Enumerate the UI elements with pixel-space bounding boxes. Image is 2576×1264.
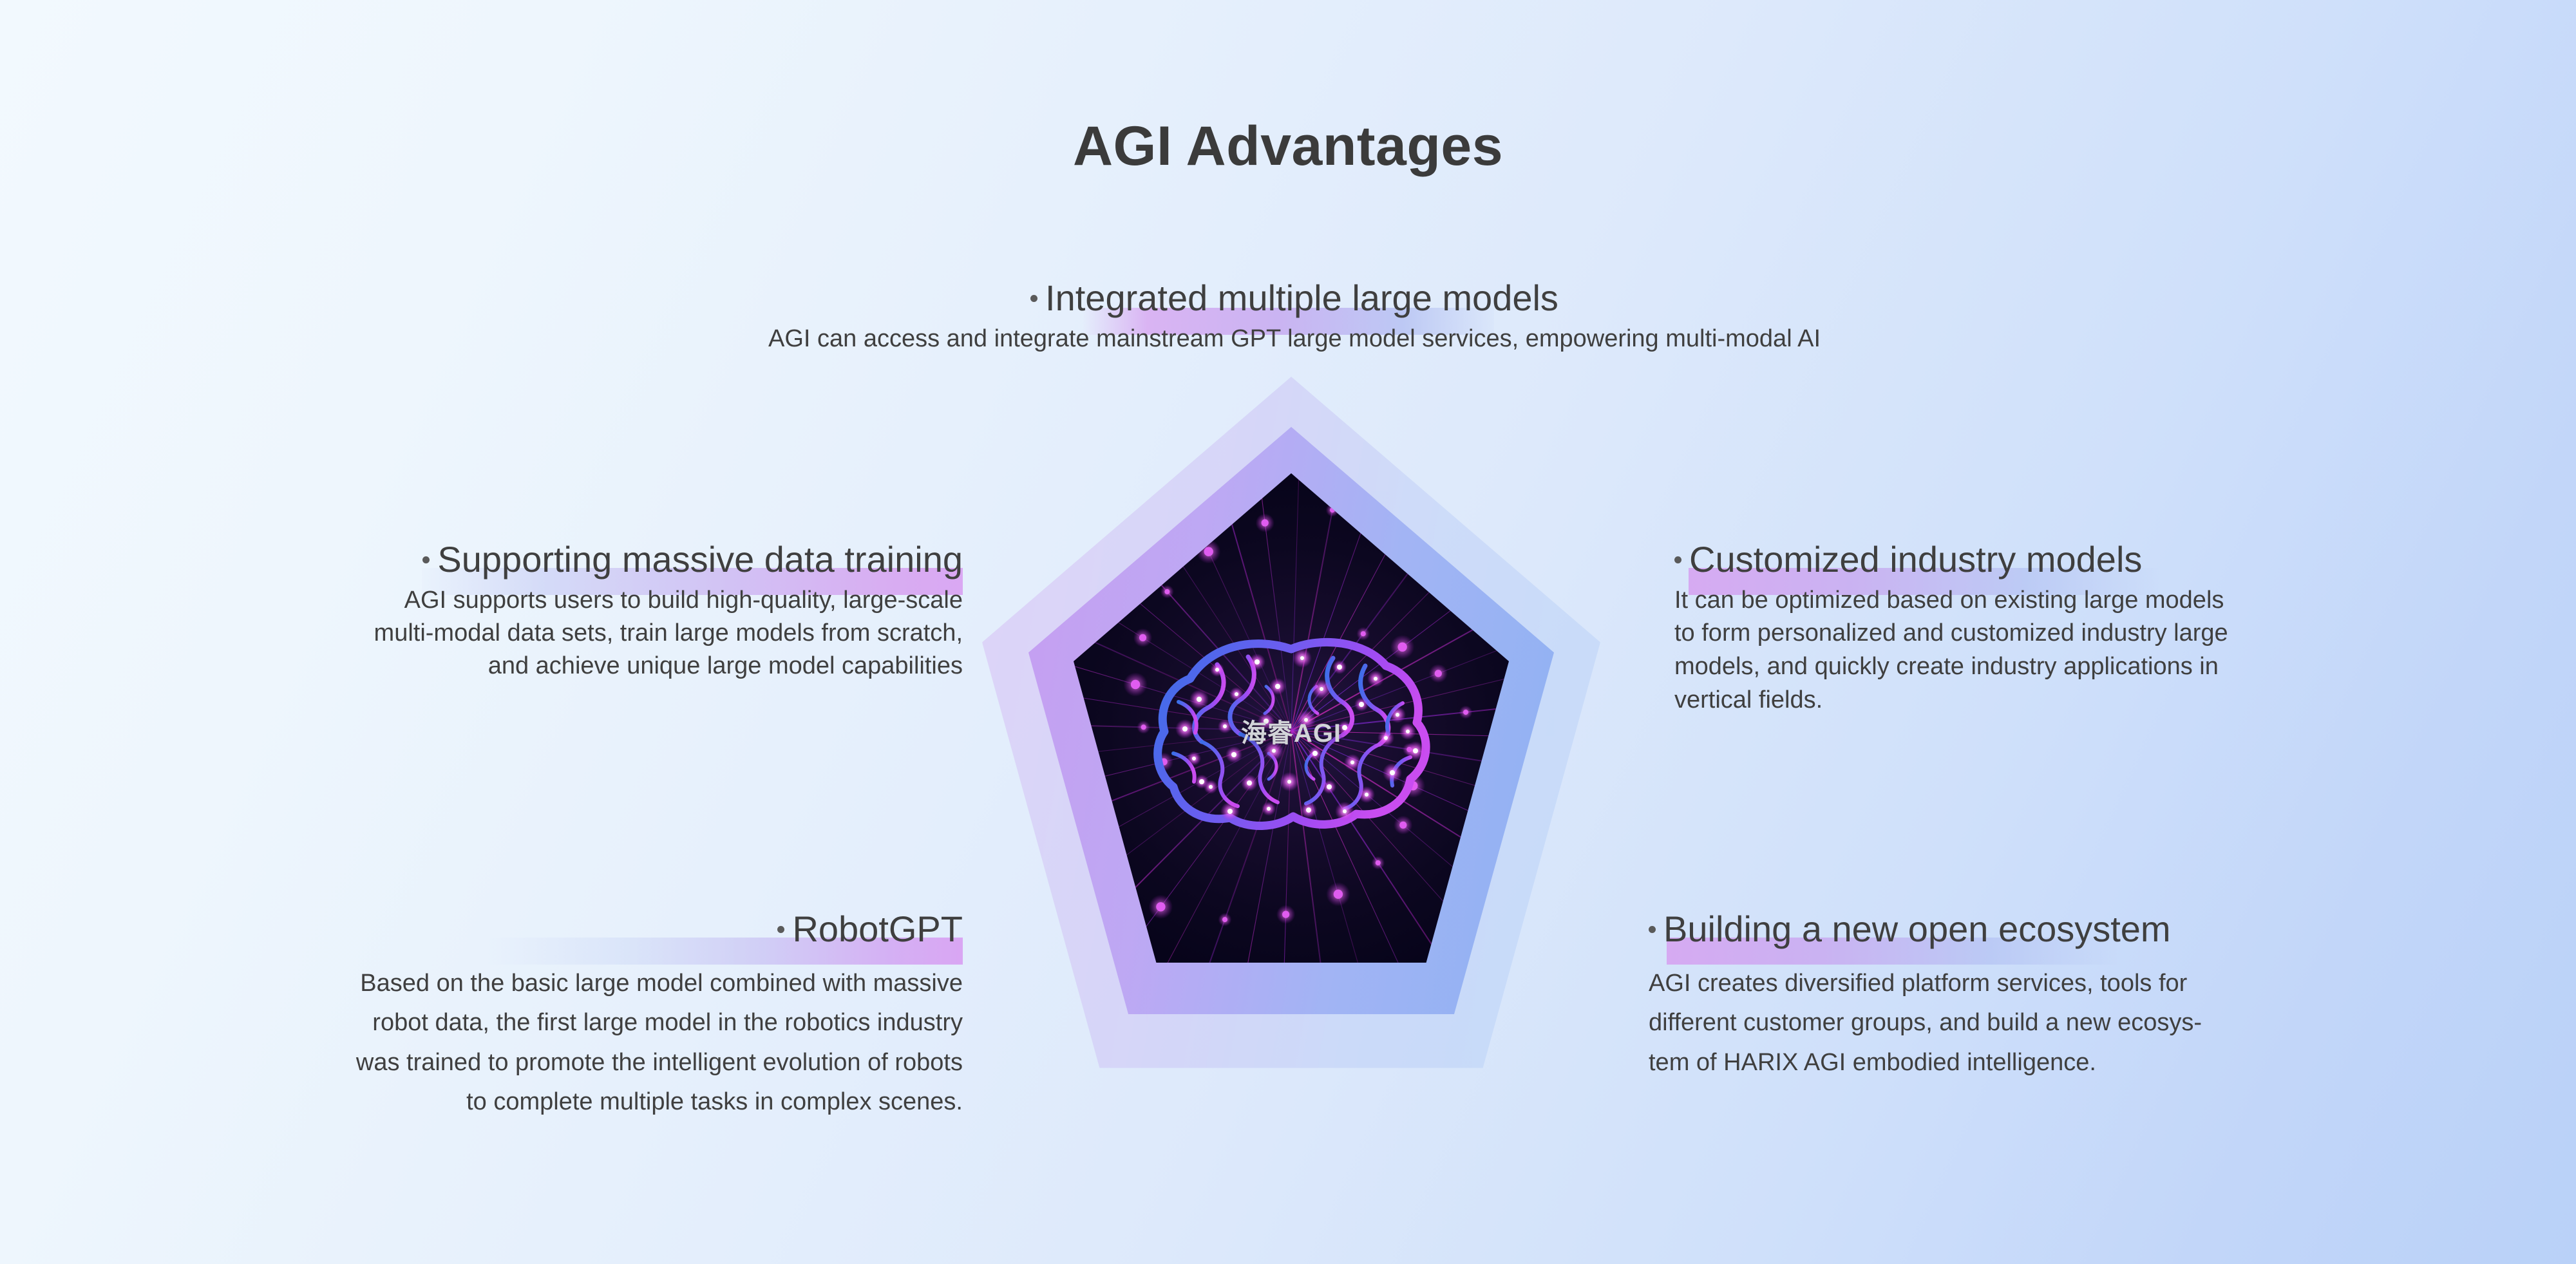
feature-heading: RobotGPT xyxy=(61,909,963,950)
feature-heading: Building a new open ecosystem xyxy=(1649,909,2512,950)
feature-body: AGI supports users to build high-quality… xyxy=(61,584,963,683)
body-line: models, and quickly create industry appl… xyxy=(1674,653,2219,680)
feature-building-a-new-open-ecosystem: Building a new open ecosystem AGI create… xyxy=(1649,909,2512,1082)
bullet-dot xyxy=(1649,926,1656,933)
bullet-dot xyxy=(422,556,430,563)
feature-body: It can be optimized based on existing la… xyxy=(1674,584,2524,717)
slide-canvas: AGI Advantages xyxy=(0,0,2576,1264)
body-line: AGI supports users to build high-quality… xyxy=(404,587,963,614)
feature-body: AGI creates diversified platform service… xyxy=(1649,964,2512,1083)
body-line: different customer groups, and build a n… xyxy=(1649,1009,2202,1036)
body-line: robot data, the first large model in the… xyxy=(372,1009,963,1036)
center-pentagon-graphic: 海睿AGI xyxy=(982,377,1600,1104)
feature-robotgpt: RobotGPT Based on the basic large model … xyxy=(61,909,963,1122)
feature-heading: Supporting massive data training xyxy=(61,540,963,580)
feature-integrated-multiple-large-models: Integrated multiple large models AGI can… xyxy=(567,278,2022,355)
body-line: vertical fields. xyxy=(1674,686,1823,713)
body-line: was trained to promote the intelligent e… xyxy=(356,1049,963,1076)
page-title: AGI Advantages xyxy=(0,115,2576,178)
body-line: AGI creates diversified platform service… xyxy=(1649,970,2187,997)
feature-body: Based on the basic large model combined … xyxy=(61,964,963,1122)
feature-heading: Customized industry models xyxy=(1674,540,2524,580)
bullet-dot xyxy=(1030,295,1037,302)
feature-body: AGI can access and integrate mainstream … xyxy=(567,323,2022,355)
body-line: tem of HARIX AGI embodied intelligence. xyxy=(1649,1049,2096,1076)
body-line: multi-modal data sets, train large model… xyxy=(374,619,963,646)
heading-wrap: Integrated multiple large models xyxy=(567,278,2022,319)
bullet-dot xyxy=(1674,556,1681,563)
body-line: It can be optimized based on existing la… xyxy=(1674,587,2224,614)
body-line: to form personalized and customized indu… xyxy=(1674,619,2228,646)
body-line: and achieve unique large model capabilit… xyxy=(488,652,963,679)
bullet-dot xyxy=(777,926,784,933)
heading-wrap: Customized industry models xyxy=(1674,540,2524,580)
body-line: to complete multiple tasks in complex sc… xyxy=(466,1088,963,1115)
heading-wrap: Building a new open ecosystem xyxy=(1649,909,2512,950)
body-line: Based on the basic large model combined … xyxy=(360,970,963,997)
feature-customized-industry-models: Customized industry models It can be opt… xyxy=(1674,540,2524,717)
feature-supporting-massive-data-training: Supporting massive data training AGI sup… xyxy=(61,540,963,682)
feature-heading: Integrated multiple large models xyxy=(567,278,2022,319)
heading-wrap: RobotGPT xyxy=(61,909,963,950)
brand-label: 海睿AGI xyxy=(1241,712,1341,750)
heading-wrap: Supporting massive data training xyxy=(61,540,963,580)
